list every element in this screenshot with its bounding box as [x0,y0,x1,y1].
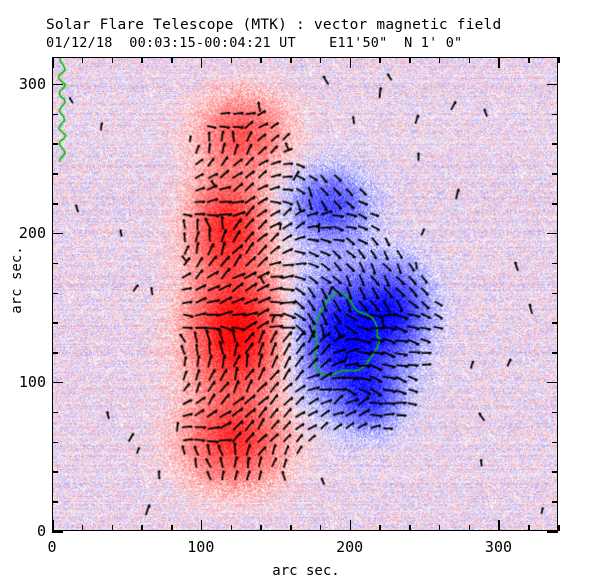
y-tick-right-220 [552,203,558,205]
x-tick-120 [231,525,233,531]
x-tick-240 [409,525,411,531]
x-tick-60 [141,525,143,531]
figure-title: Solar Flare Telescope (MTK) : vector mag… [46,17,501,33]
x-tick-160 [290,525,292,531]
x-tick-220 [379,525,381,531]
x-tick-280 [469,525,471,531]
y-tick-right-240 [552,173,558,175]
x-tick-0 [52,520,54,531]
y-tick-label-300: 300 [2,75,46,93]
x-tick-320 [528,525,530,531]
y-tick-right-200 [547,233,558,235]
y-tick-20 [52,501,58,503]
y-tick-right-60 [552,442,558,444]
y-tick-120 [52,352,58,354]
y-tick-160 [52,293,58,295]
x-tick-label-100: 100 [187,538,214,556]
y-tick-260 [52,143,58,145]
y-tick-40 [52,471,58,473]
y-tick-140 [52,322,58,324]
y-tick-right-260 [552,143,558,145]
y-tick-100 [52,382,63,384]
x-tick-top-100 [201,57,203,68]
y-tick-280 [52,114,58,116]
x-tick-100 [201,520,203,531]
y-tick-300 [52,84,63,86]
x-tick-20 [82,525,84,531]
x-tick-top-340 [558,57,560,63]
y-tick-right-80 [552,412,558,414]
y-tick-label-100: 100 [2,373,46,391]
x-tick-40 [112,525,114,531]
x-tick-80 [171,525,173,531]
x-tick-260 [439,525,441,531]
x-tick-top-200 [350,57,352,68]
y-tick-right-40 [552,471,558,473]
x-tick-top-0 [52,57,54,68]
y-tick-240 [52,173,58,175]
y-tick-right-300 [547,84,558,86]
y-tick-0 [52,531,63,533]
x-tick-top-160 [290,57,292,63]
x-tick-top-260 [439,57,441,63]
y-tick-right-0 [547,531,558,533]
x-tick-label-300: 300 [485,538,512,556]
x-tick-300 [498,520,500,531]
vector-field-overlay [53,58,557,530]
figure-subtitle: 01/12/18 00:03:15-00:04:21 UT E11'50" N … [46,35,462,51]
plot-area [52,57,558,531]
y-tick-220 [52,203,58,205]
y-tick-right-280 [552,114,558,116]
x-tick-top-240 [409,57,411,63]
y-axis-label: arc sec. [9,235,25,325]
x-tick-label-200: 200 [336,538,363,556]
x-tick-top-300 [498,57,500,68]
x-tick-top-280 [469,57,471,63]
x-tick-top-320 [528,57,530,63]
x-tick-top-180 [320,57,322,63]
x-tick-top-140 [260,57,262,63]
x-tick-top-120 [231,57,233,63]
y-tick-right-140 [552,322,558,324]
y-tick-right-20 [552,501,558,503]
x-tick-top-60 [141,57,143,63]
x-tick-180 [320,525,322,531]
y-tick-180 [52,263,58,265]
y-tick-right-100 [547,382,558,384]
y-tick-right-120 [552,352,558,354]
x-tick-label-0: 0 [47,538,56,556]
x-tick-top-40 [112,57,114,63]
magnetogram-figure: Solar Flare Telescope (MTK) : vector mag… [0,0,612,585]
x-tick-top-20 [82,57,84,63]
x-tick-top-220 [379,57,381,63]
x-tick-200 [350,520,352,531]
x-tick-340 [558,525,560,531]
y-tick-80 [52,412,58,414]
y-tick-right-160 [552,293,558,295]
y-tick-right-180 [552,263,558,265]
x-axis-label: arc sec. [0,563,612,579]
y-tick-200 [52,233,63,235]
y-tick-60 [52,442,58,444]
x-tick-140 [260,525,262,531]
x-tick-top-80 [171,57,173,63]
y-tick-label-0: 0 [2,522,46,540]
